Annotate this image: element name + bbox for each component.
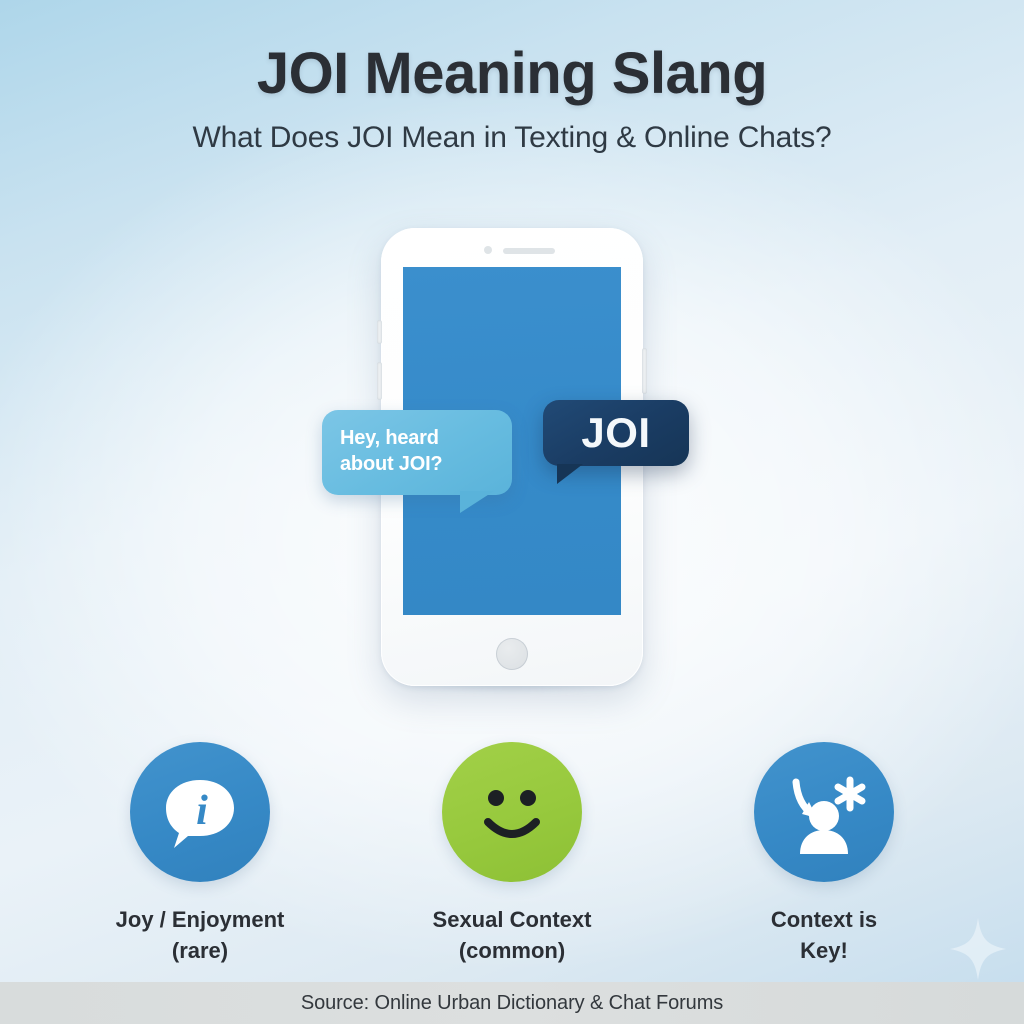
feature-note-text: Key!	[771, 935, 877, 966]
feature-icon-circle: i	[130, 742, 270, 882]
phone-mute-switch	[377, 320, 382, 344]
feature-note-text: (rare)	[116, 935, 285, 966]
info-speech-bubble-icon: i	[154, 766, 246, 858]
feature-sexual-context: Sexual Context (common)	[417, 742, 607, 966]
page-title: JOI Meaning Slang	[0, 44, 1024, 105]
four-point-sparkle-icon	[950, 918, 1006, 980]
header: JOI Meaning Slang What Does JOI Mean in …	[0, 44, 1024, 155]
speaker-grille-icon	[503, 248, 555, 254]
page-subtitle: What Does JOI Mean in Texting & Online C…	[0, 121, 1024, 155]
feature-label-text: Context is	[771, 907, 877, 932]
feature-label: Joy / Enjoyment (rare)	[116, 904, 285, 966]
feature-label: Context is Key!	[771, 904, 877, 966]
feature-icon-circle	[442, 742, 582, 882]
chat-bubble-tail	[557, 464, 583, 484]
feature-context-is-key: Context is Key!	[729, 742, 919, 966]
joi-highlight-bubble-text: JOI	[581, 412, 650, 454]
feature-label: Sexual Context (common)	[433, 904, 592, 966]
feature-icon-circle	[754, 742, 894, 882]
joi-meaning-infographic: JOI Meaning Slang What Does JOI Mean in …	[0, 0, 1024, 1024]
svg-text:i: i	[196, 788, 208, 834]
chat-bubble-tail	[460, 491, 494, 513]
incoming-chat-bubble-text: Hey, heard about JOI?	[340, 427, 442, 475]
footer-source-text: Source: Online Urban Dictionary & Chat F…	[301, 992, 723, 1015]
phone-power-button	[642, 348, 647, 394]
feature-row: i Joy / Enjoyment (rare) Sexual Context …	[0, 742, 1024, 966]
phone-volume-up-button	[377, 362, 382, 400]
footer-bar: Source: Online Urban Dictionary & Chat F…	[0, 982, 1024, 1024]
camera-dot-icon	[484, 246, 492, 254]
home-button-icon	[496, 638, 528, 670]
feature-label-text: Sexual Context	[433, 907, 592, 932]
incoming-chat-bubble: Hey, heard about JOI?	[322, 410, 512, 495]
feature-label-text: Joy / Enjoyment	[116, 907, 285, 932]
feature-joy-enjoyment: i Joy / Enjoyment (rare)	[105, 742, 295, 966]
feature-note-text: (common)	[433, 935, 592, 966]
smiley-face-icon	[460, 760, 564, 864]
joi-highlight-bubble: JOI	[543, 400, 689, 466]
person-arrow-asterisk-icon	[776, 764, 872, 860]
